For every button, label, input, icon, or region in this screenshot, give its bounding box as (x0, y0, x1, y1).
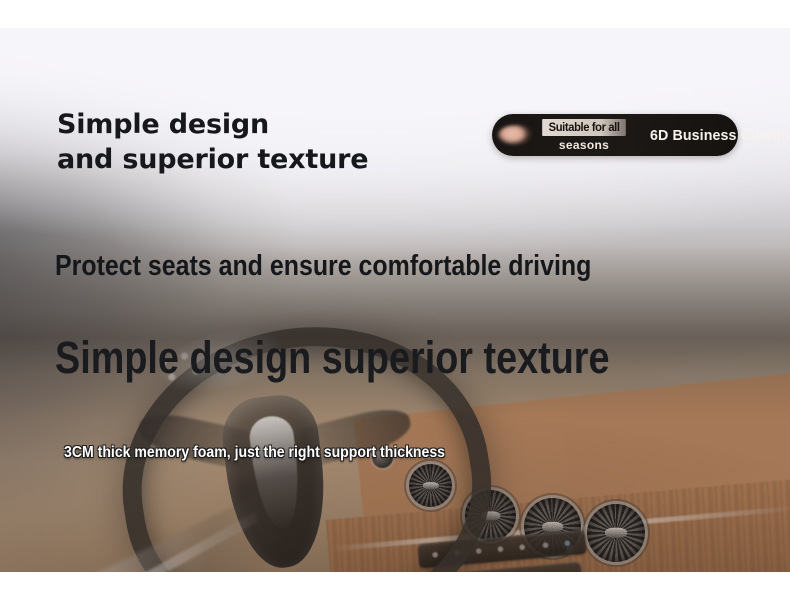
bottom-white-strip (0, 572, 790, 593)
subheadline: Protect seats and ensure comfortable dri… (55, 249, 591, 283)
hero-title-line-1: Simple design (57, 107, 368, 142)
main-headline: Simple design superior texture (55, 331, 610, 385)
hero-title: Simple design and superior texture (57, 107, 368, 177)
badge-strip-label: Suitable for all (542, 119, 626, 136)
badge-seasons-group: Suitable for all seasons (524, 118, 644, 152)
product-badge-pill[interactable]: Suitable for all seasons 6D Business Cus… (492, 114, 738, 156)
badge-product-label: 6D Business Cushion (650, 114, 790, 156)
feature-caption: 3CM thick memory foam, just the right su… (64, 443, 445, 463)
product-banner: Simple design and superior texture Suita… (0, 0, 790, 593)
badge-strip-sublabel: seasons (524, 138, 644, 152)
hero-title-line-2: and superior texture (57, 142, 368, 177)
top-white-strip (0, 0, 790, 28)
